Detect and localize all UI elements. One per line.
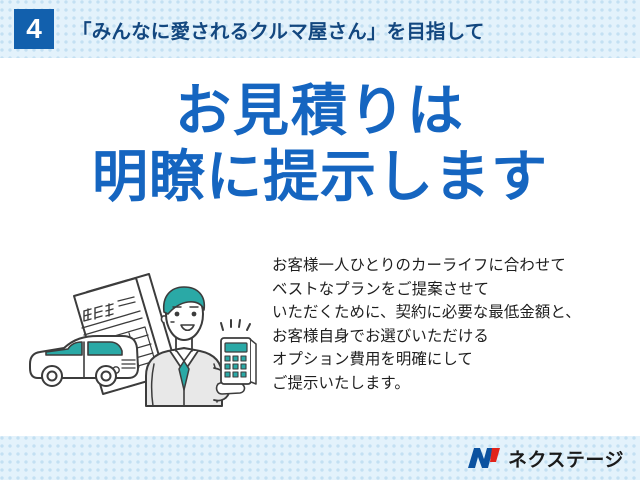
header-band: 4 「みんなに愛されるクルマ屋さん」を目指して bbox=[0, 0, 640, 58]
body-copy-line: オプション費用を明確にして bbox=[272, 348, 632, 372]
brand-logo-text: ネクステージ bbox=[508, 445, 624, 472]
banner-page: 4 「みんなに愛されるクルマ屋さん」を目指して お見積りは 明瞭に提示します お… bbox=[0, 0, 640, 480]
step-number-badge: 4 bbox=[14, 9, 54, 49]
headline-line-1: お見積りは bbox=[0, 78, 640, 144]
illustration-svg bbox=[18, 256, 268, 428]
nextage-n-logo-icon bbox=[467, 446, 501, 470]
van-illustration bbox=[30, 336, 138, 386]
headline: お見積りは 明瞭に提示します bbox=[0, 78, 640, 210]
body-copy-line: いただくために、契約に必要な最低金額と、 bbox=[272, 301, 632, 325]
footer-band: ネクステージ bbox=[0, 436, 640, 480]
header-inner: 4 「みんなに愛されるクルマ屋さん」を目指して bbox=[0, 0, 640, 58]
body-copy-line: ご提示いたします。 bbox=[272, 372, 632, 396]
brand-logo: ネクステージ bbox=[467, 436, 624, 480]
headline-line-2: 明瞭に提示します bbox=[0, 144, 640, 210]
body-copy: お客様一人ひとりのカーライフに合わせて ベストなプランをご提案させて いただくた… bbox=[272, 254, 632, 395]
body-copy-line: お客様自身でお選びいただける bbox=[272, 325, 632, 349]
body-copy-line: お客様一人ひとりのカーライフに合わせて bbox=[272, 254, 632, 278]
calculator-icon bbox=[221, 320, 256, 384]
body-copy-line: ベストなプランをご提案させて bbox=[272, 278, 632, 302]
salesman-quote-van-illustration bbox=[18, 256, 268, 428]
header-title: 「みんなに愛されるクルマ屋さん」を目指して bbox=[72, 15, 485, 44]
